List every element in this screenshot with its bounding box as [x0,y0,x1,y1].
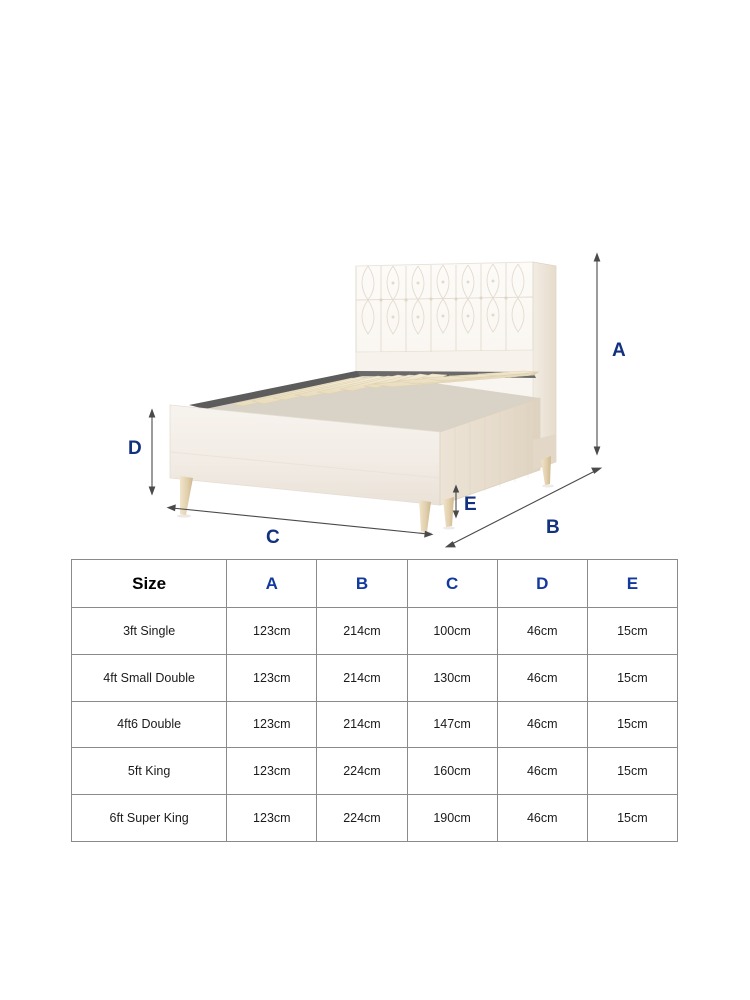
cell-e: 15cm [587,608,677,655]
cell-c: 160cm [407,748,497,795]
cell-a: 123cm [227,795,317,842]
column-header-b: B [317,560,407,608]
bed-leg-back-right [541,456,551,485]
cell-a: 123cm [227,701,317,748]
cell-d: 46cm [497,608,587,655]
cell-a: 123cm [227,608,317,655]
table-row: 4ft Small Double 123cm 214cm 130cm 46cm … [72,654,678,701]
bed-size-table: Size A B C D E 3ft Single 123cm 214cm 10… [71,559,678,842]
table-row: 6ft Super King 123cm 224cm 190cm 46cm 15… [72,795,678,842]
dimension-label-a: A [612,341,626,360]
dimension-label-c: C [266,528,280,547]
dimension-line-A [594,254,599,454]
cell-size: 4ft6 Double [72,701,227,748]
bed-leg-foot [443,497,454,527]
cell-d: 46cm [497,701,587,748]
dimension-line-D [149,410,154,494]
cell-d: 46cm [497,795,587,842]
column-header-size: Size [72,560,227,608]
cell-e: 15cm [587,748,677,795]
cell-e: 15cm [587,701,677,748]
dimension-line-C [168,505,432,537]
table-header-row: Size A B C D E [72,560,678,608]
cell-c: 130cm [407,654,497,701]
table-row: 4ft6 Double 123cm 214cm 147cm 46cm 15cm [72,701,678,748]
bed-dimension-illustration: A B C D E [0,0,750,556]
cell-c: 190cm [407,795,497,842]
cell-b: 214cm [317,608,407,655]
table-row: 5ft King 123cm 224cm 160cm 46cm 15cm [72,748,678,795]
cell-b: 214cm [317,701,407,748]
table-row: 3ft Single 123cm 214cm 100cm 46cm 15cm [72,608,678,655]
cell-b: 224cm [317,795,407,842]
cell-c: 100cm [407,608,497,655]
dimension-label-e: E [464,495,477,514]
dimension-line-E [454,486,459,517]
cell-e: 15cm [587,795,677,842]
cell-a: 123cm [227,748,317,795]
bed-leg-front-right [419,500,431,532]
column-header-d: D [497,560,587,608]
cell-d: 46cm [497,748,587,795]
cell-b: 224cm [317,748,407,795]
cell-c: 147cm [407,701,497,748]
column-header-c: C [407,560,497,608]
column-header-e: E [587,560,677,608]
cell-e: 15cm [587,654,677,701]
cell-d: 46cm [497,654,587,701]
cell-size: 5ft King [72,748,227,795]
cell-a: 123cm [227,654,317,701]
cell-size: 4ft Small Double [72,654,227,701]
dimension-label-d: D [128,439,142,458]
column-header-a: A [227,560,317,608]
cell-size: 3ft Single [72,608,227,655]
cell-size: 6ft Super King [72,795,227,842]
bed-size-guide-page: A B C D E Size A B C D E 3ft Single 123c… [0,0,750,1000]
dimension-label-b: B [546,518,560,537]
cell-b: 214cm [317,654,407,701]
bed-illustration-body [170,262,556,535]
